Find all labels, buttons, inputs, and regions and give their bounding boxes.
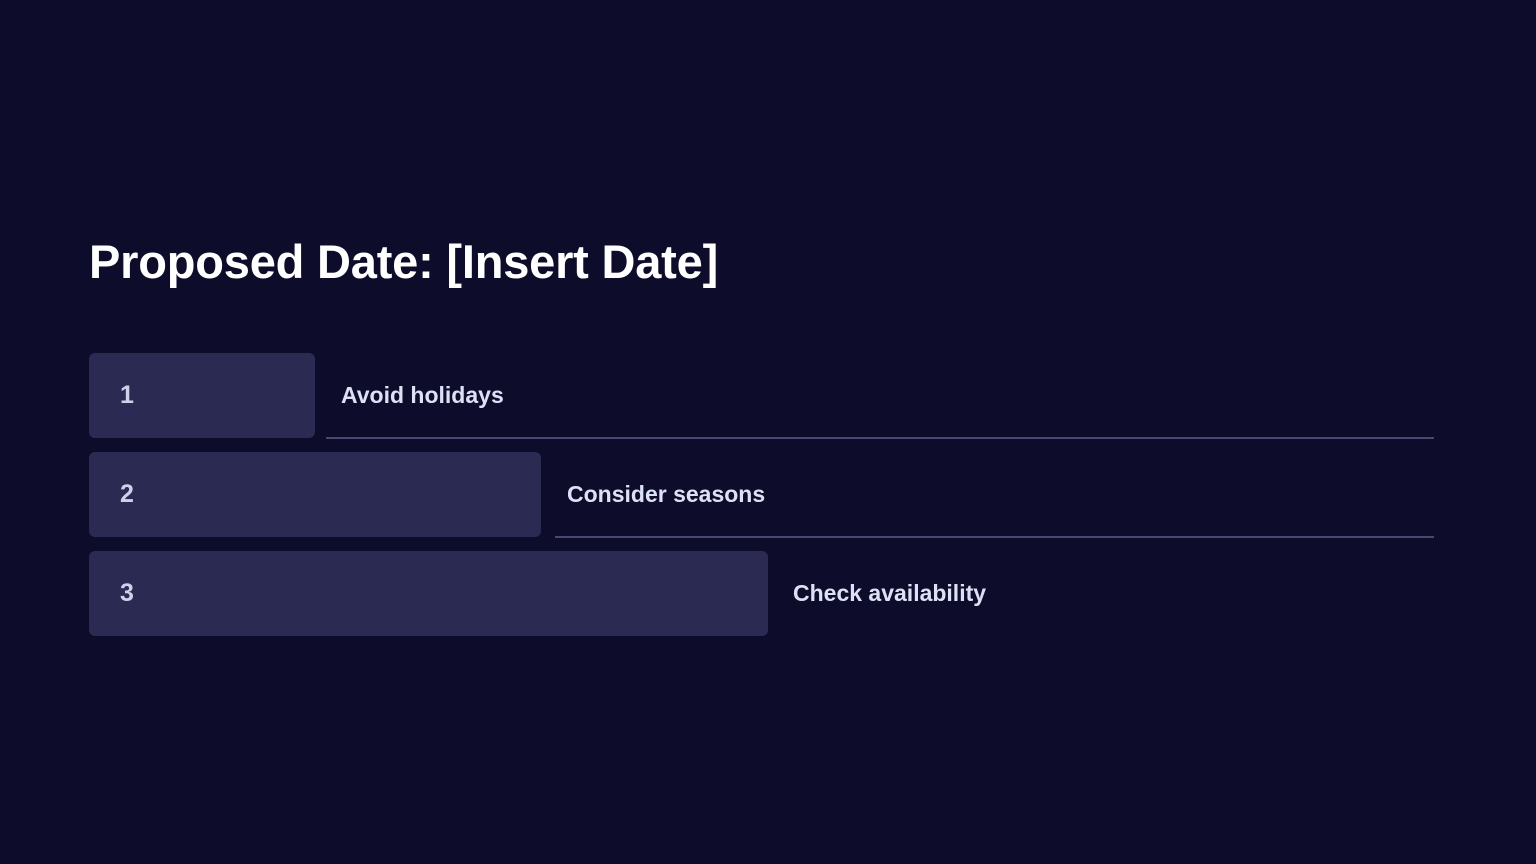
step-number: 3 [120,551,134,636]
page-title: Proposed Date: [Insert Date] [89,229,718,295]
step-number-box [89,551,768,636]
step-divider [555,536,1434,538]
step-number: 2 [120,452,134,537]
step-divider [326,437,1434,439]
step-label: Avoid holidays [341,353,504,438]
step-label: Check availability [793,551,986,636]
step-number-box [89,452,541,537]
step-label: Consider seasons [567,452,765,537]
step-number: 1 [120,353,134,438]
slide-canvas: Proposed Date: [Insert Date] 1 Avoid hol… [0,0,1536,864]
